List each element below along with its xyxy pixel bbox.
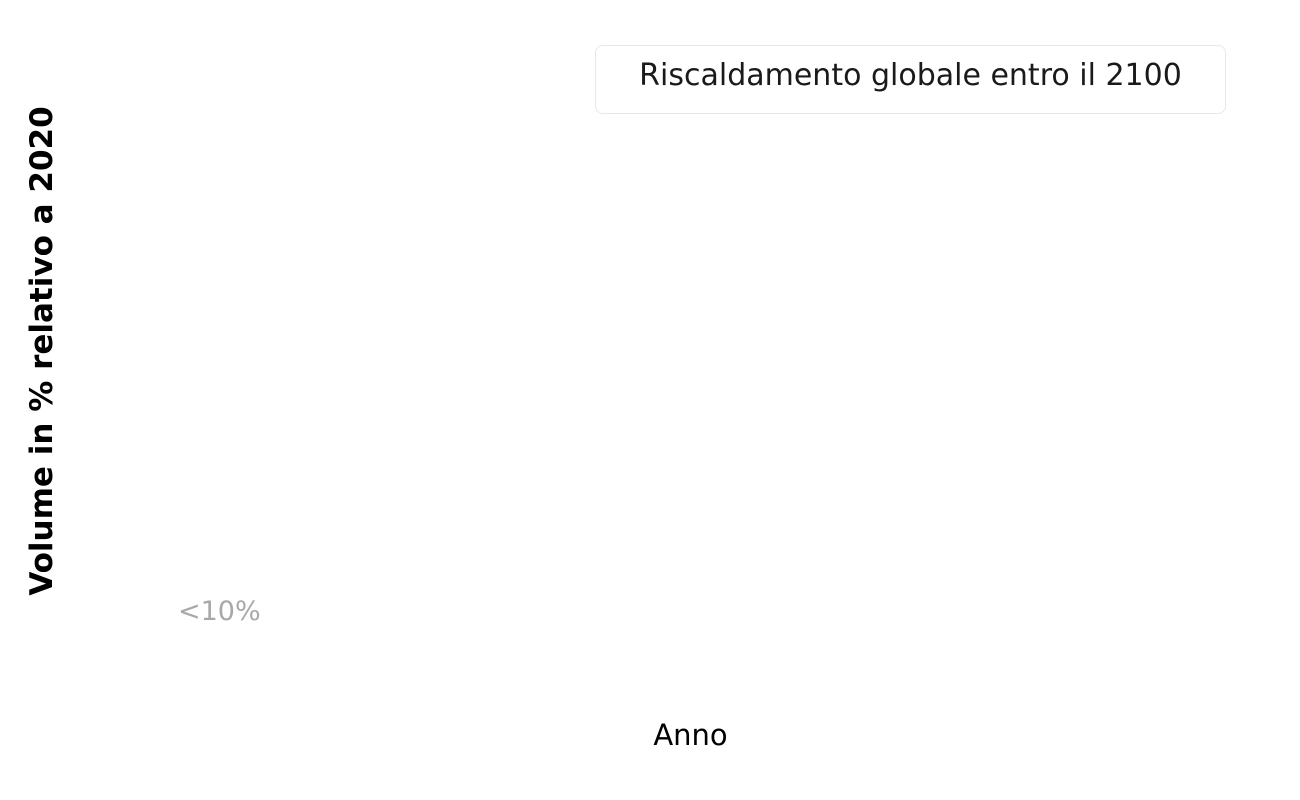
x-axis-title: Anno — [159, 718, 1222, 752]
y-axis-title: Volume in % relativo a 2020 — [14, 26, 70, 676]
legend-title: Riscaldamento globale entro il 2100 — [614, 56, 1207, 99]
chart-figure: Volume in % relativo a 2020 Anno <10% Ri… — [0, 0, 1300, 800]
plot-area — [0, 0, 1300, 800]
threshold-label: <10% — [178, 596, 261, 627]
legend-box: Riscaldamento globale entro il 2100 — [595, 45, 1226, 114]
